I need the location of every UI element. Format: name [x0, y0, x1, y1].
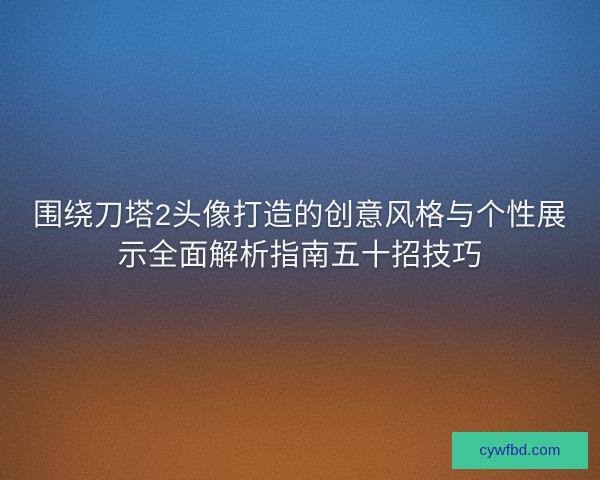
watermark-badge[interactable]: cywfbd.com [452, 432, 588, 469]
cover-image-canvas: 围绕刀塔2头像打造的创意风格与个性展 示全面解析指南五十招技巧 cywfbd.c… [0, 0, 600, 480]
watermark-domain-label: cywfbd.com [479, 443, 560, 458]
headline-title: 围绕刀塔2头像打造的创意风格与个性展 示全面解析指南五十招技巧 [0, 196, 600, 276]
